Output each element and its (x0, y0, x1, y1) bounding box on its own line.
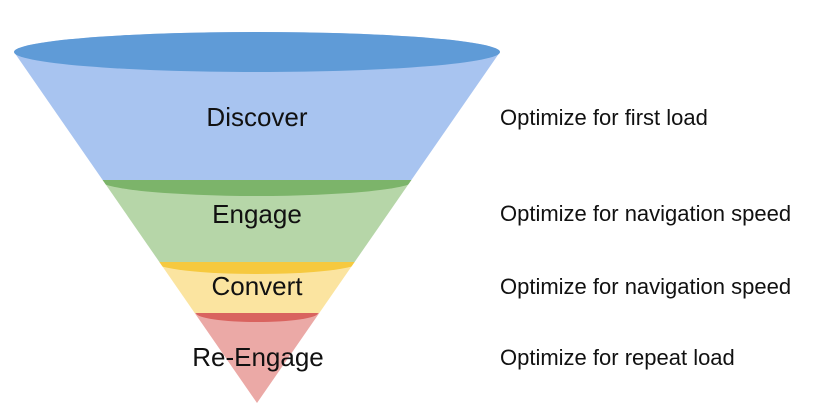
funnel-diagram: Discover Engage Convert Re-Engage Optimi… (0, 0, 837, 417)
funnel-stage-label-convert: Convert (211, 271, 303, 301)
funnel-annotation-reengage: Optimize for repeat load (500, 347, 735, 369)
funnel-stage-label-discover: Discover (206, 102, 307, 132)
funnel-annotation-engage: Optimize for navigation speed (500, 203, 791, 225)
funnel-annotation-convert: Optimize for navigation speed (500, 276, 791, 298)
funnel-stage-label-engage: Engage (212, 199, 302, 229)
funnel-annotation-discover: Optimize for first load (500, 107, 708, 129)
funnel-body-discover (0, 0, 837, 180)
funnel-cap-discover (14, 32, 500, 72)
funnel-stage-label-reengage: Re-Engage (192, 342, 324, 372)
